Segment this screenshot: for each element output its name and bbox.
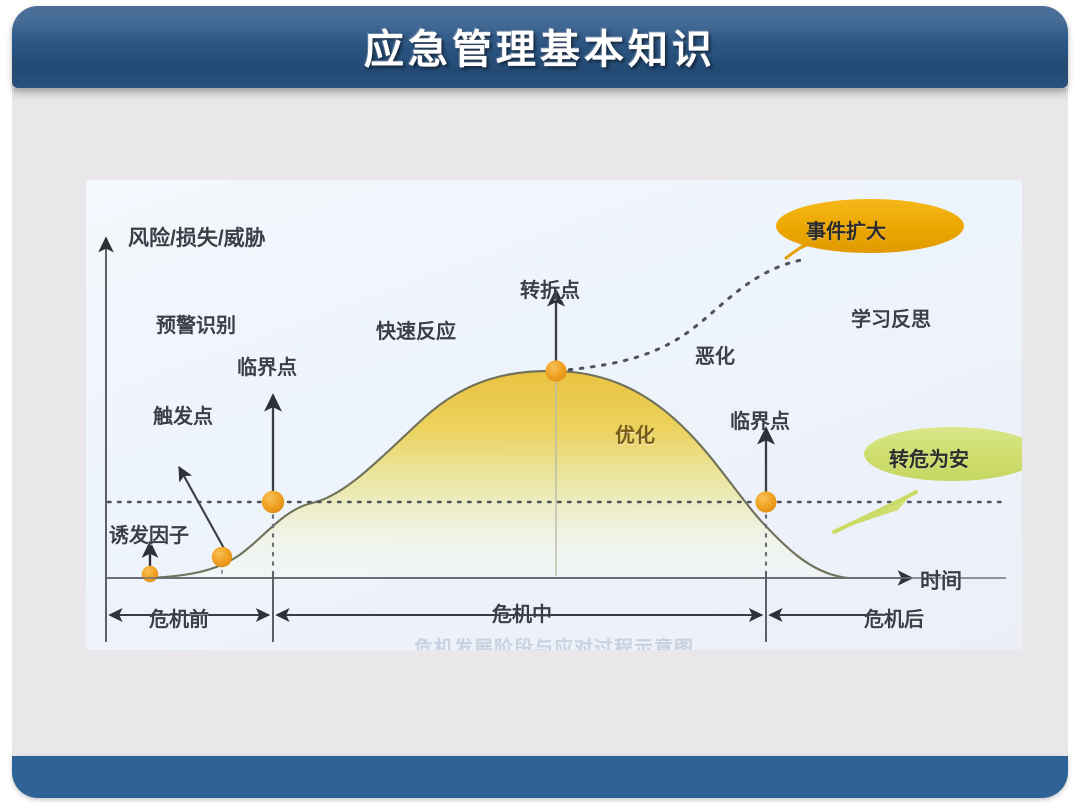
phase-label-pre-crisis: 危机前 — [149, 603, 209, 632]
marker-critical-point-left — [262, 491, 284, 513]
marker-inducing-factor — [142, 566, 158, 582]
slide-canvas: 应急管理基本知识 — [0, 0, 1080, 810]
label-worsening: 恶化 — [695, 340, 735, 369]
zone-label-early-warning: 预警识别 — [156, 309, 236, 338]
x-axis-label: 时间 — [920, 565, 962, 595]
callout-safe-tail-thin — [834, 492, 916, 532]
marker-critical-point-right — [755, 491, 776, 512]
zone-label-fast-response: 快速反应 — [376, 315, 456, 344]
panel-caption: 危机发展阶段与应对过程示意图 — [86, 633, 1022, 650]
label-critical-point-left: 临界点 — [237, 351, 297, 380]
label-trigger-point: 触发点 — [153, 400, 213, 429]
label-critical-point-right: 临界点 — [730, 405, 790, 434]
phase-label-during-crisis: 危机中 — [492, 598, 552, 627]
label-turning-point: 转折点 — [520, 274, 580, 303]
label-inducing-factor: 诱发因子 — [109, 519, 189, 548]
page-title: 应急管理基本知识 — [12, 17, 1068, 75]
y-axis-label: 风险/损失/威胁 — [128, 222, 266, 252]
label-optimization: 优化 — [615, 419, 655, 448]
crisis-curve-fill — [150, 371, 854, 578]
zone-label-learning: 学习反思 — [851, 303, 931, 332]
phase-label-post-crisis: 危机后 — [864, 603, 924, 632]
marker-trigger-point — [212, 547, 232, 567]
callout-label-safe: 转危为安 — [889, 443, 969, 472]
footer-bar — [12, 756, 1068, 798]
worsening-dotted-path — [558, 260, 802, 371]
title-banner: 应急管理基本知识 — [12, 6, 1068, 88]
marker-turning-point — [545, 360, 566, 381]
callout-label-escalate: 事件扩大 — [806, 215, 886, 244]
